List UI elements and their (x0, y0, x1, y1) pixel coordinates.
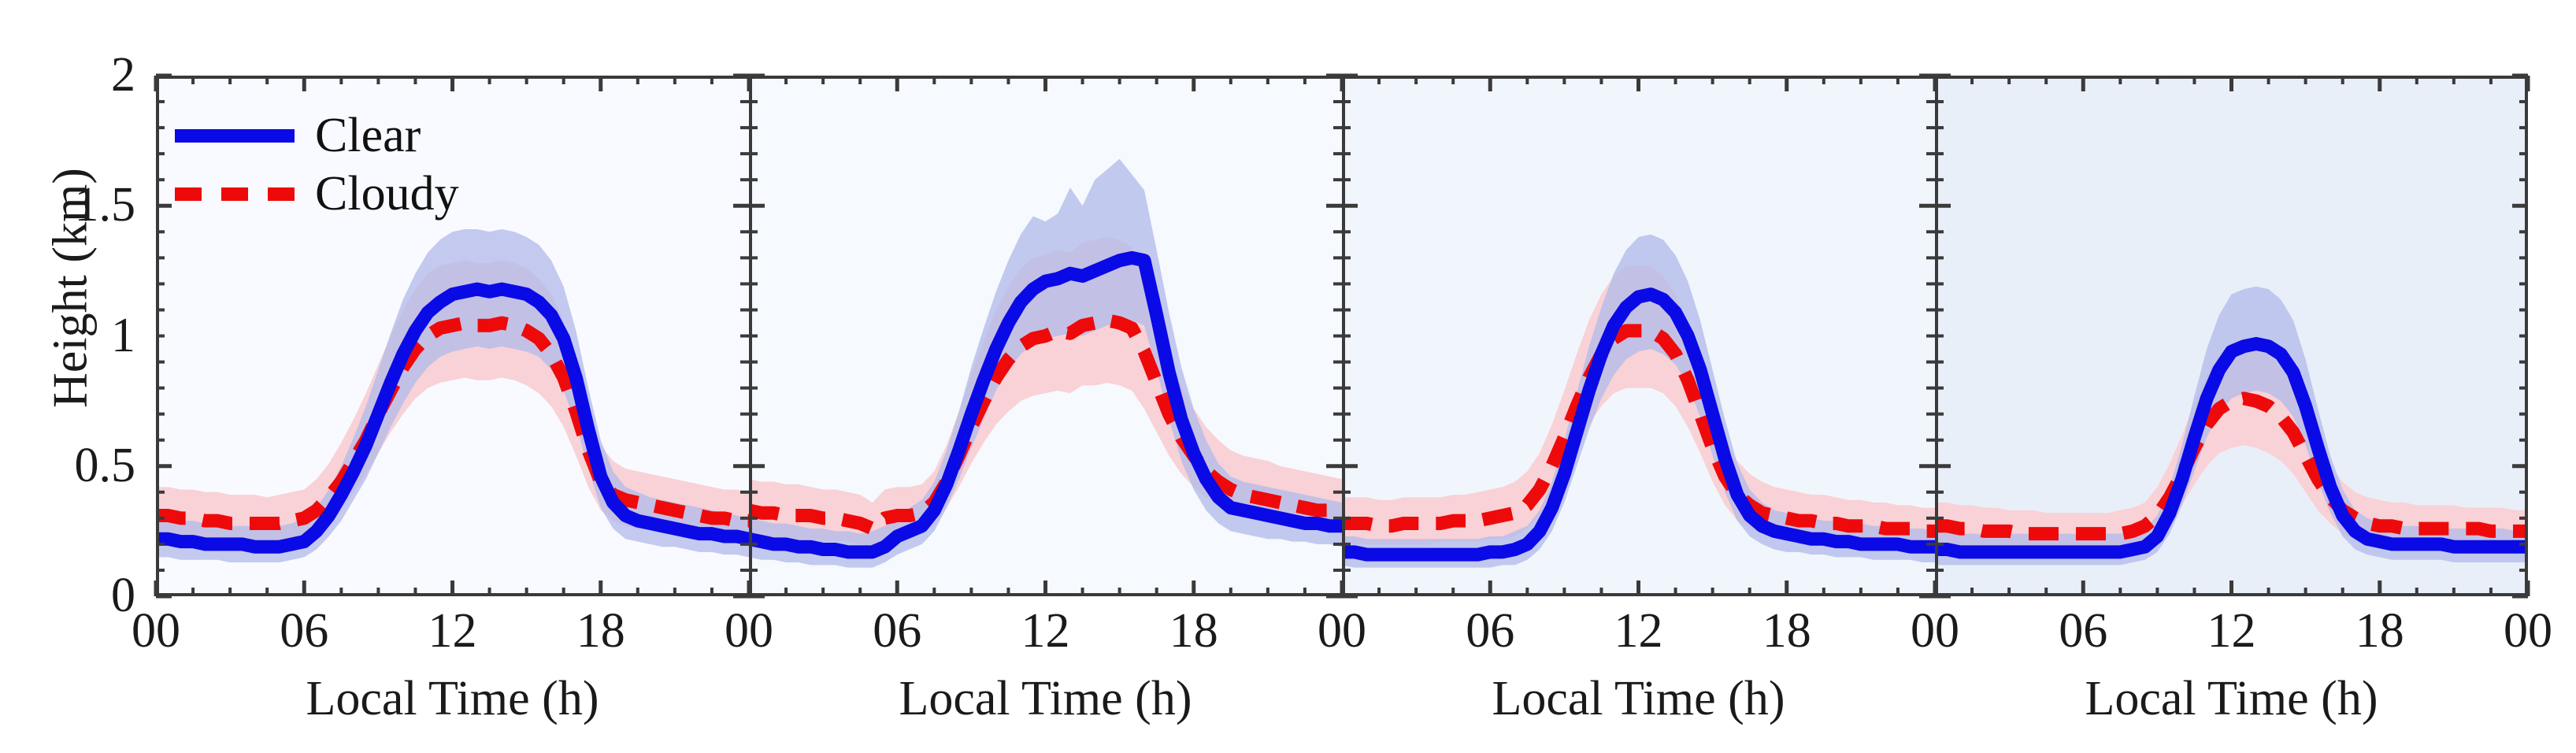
x-tick-label: 18 (1724, 606, 1850, 655)
x-tick-label-group: 0006121800061218000612180006121800 (0, 606, 2576, 670)
panel-plot (1342, 76, 1935, 596)
legend-label-clear: Clear (315, 111, 421, 160)
legend-swatch-cloudy (175, 187, 295, 201)
y-tick-label: 1.5 (0, 180, 135, 229)
x-tick-label: 12 (1576, 606, 1702, 655)
x-tick-label: 06 (1427, 606, 1553, 655)
x-axis-label: Local Time (h) (156, 671, 749, 742)
x-tick-label: 00 (1279, 606, 1405, 655)
x-tick-label: 06 (834, 606, 960, 655)
panel-plot (1935, 76, 2528, 596)
legend-item-cloudy: Cloudy (175, 165, 513, 223)
x-axis-label: Local Time (h) (1342, 671, 1935, 742)
x-tick-label: 06 (2020, 606, 2146, 655)
x-tick-label: 18 (538, 606, 664, 655)
panel-divider-2 (1342, 76, 1345, 596)
x-tick-label: 00 (2465, 606, 2576, 655)
x-tick-label: 18 (1131, 606, 1257, 655)
y-tick-label: 0.5 (0, 441, 135, 490)
x-tick-label: 12 (983, 606, 1109, 655)
x-tick-label: 12 (2169, 606, 2295, 655)
x-axis-label: Local Time (h) (749, 671, 1342, 742)
panel-divider-3 (1935, 76, 1938, 596)
panel-plot (749, 76, 1342, 596)
x-tick-label: 00 (686, 606, 812, 655)
x-tick-label: 18 (2317, 606, 2443, 655)
legend-item-clear: Clear (175, 106, 513, 165)
panel-divider-1 (749, 76, 752, 596)
panel-winter: Winter (1935, 76, 2528, 596)
x-tick-label: 00 (1872, 606, 1998, 655)
x-tick-label: 00 (93, 606, 219, 655)
panel-summer: Summer (749, 76, 1342, 596)
y-tick-label: 1 (0, 311, 135, 360)
panel-autumn: Autumn (1342, 76, 1935, 596)
legend-label-cloudy: Cloudy (315, 169, 459, 218)
x-axis-title-group: Local Time (h)Local Time (h)Local Time (… (156, 671, 2528, 742)
y-tick-label: 2 (0, 50, 135, 99)
x-tick-label: 12 (390, 606, 516, 655)
legend-swatch-clear (175, 129, 295, 143)
x-tick-label: 06 (241, 606, 367, 655)
seasonal-diurnal-chart: Height (km) 21.510.50 SpringSummerAutumn… (0, 0, 2576, 753)
legend: Clear Cloudy (175, 106, 513, 223)
x-axis-label: Local Time (h) (1935, 671, 2528, 742)
